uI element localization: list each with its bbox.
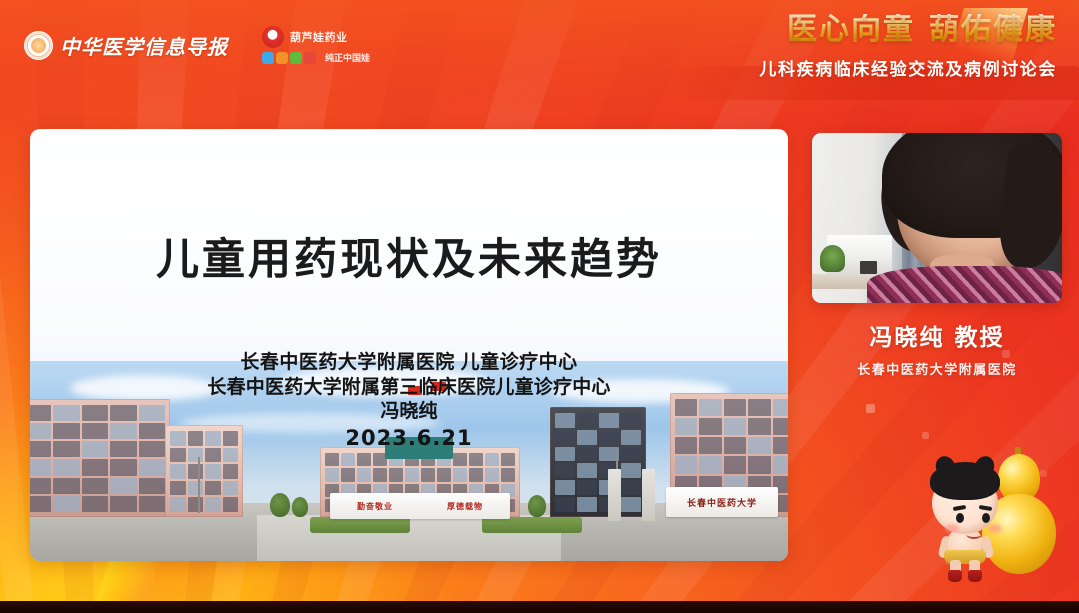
- slide-subtitle-line-1: 长春中医药大学附属医院 儿童诊疗中心: [30, 351, 788, 376]
- gate-pillar: [642, 469, 655, 521]
- speaker-organization: 长春中医药大学附属医院: [812, 359, 1062, 378]
- chip-green-icon: [290, 52, 302, 64]
- event-title: 医心向童葫佑健康: [759, 14, 1057, 46]
- event-header: 医心向童葫佑健康 儿科疾病临床经验交流及病例讨论会: [759, 14, 1057, 80]
- speaker-name-row: 冯晓纯教授: [812, 318, 1062, 352]
- slide-subtitle-line-2: 长春中医药大学附属第三临床医院儿童诊疗中心: [30, 376, 788, 401]
- logo-primary-name: 中华医学信息导报: [60, 31, 228, 60]
- lawn-strip: [482, 517, 582, 533]
- brand-color-chips: [262, 52, 316, 64]
- mascot-brow-left: [953, 505, 966, 511]
- video-small-box: [860, 261, 878, 275]
- slide-subtitle-block: 长春中医药大学附属医院 儿童诊疗中心 长春中医药大学附属第三临床医院儿童诊疗中心…: [30, 351, 788, 452]
- speaker-video-panel[interactable]: [812, 133, 1062, 303]
- mascot-mouth: [966, 529, 982, 539]
- medical-association-seal-icon: [24, 31, 53, 60]
- mascot-cheek-right: [988, 524, 1002, 533]
- lawn-strip: [310, 517, 410, 533]
- mascot-eye-left: [956, 513, 964, 523]
- logo-huluwa-pharma: 葫芦娃药业 纯正中国娃: [262, 26, 370, 64]
- event-title-part2: 葫佑健康: [929, 13, 1057, 46]
- mascot-boy-icon: [924, 458, 1008, 580]
- tree-icon: [270, 493, 290, 517]
- motto-left: 勤奋敬业: [357, 501, 393, 512]
- speaker-title: 教授: [955, 324, 1005, 350]
- chip-orange-icon: [276, 52, 288, 64]
- logo-secondary-name: 葫芦娃药业: [290, 29, 348, 45]
- chip-blue-icon: [262, 52, 274, 64]
- sparkle-dot: [866, 404, 875, 413]
- sparkle-dot: [922, 432, 929, 439]
- university-name-sign: 长春中医药大学: [666, 487, 778, 517]
- event-subtitle: 儿科疾病临床经验交流及病例讨论会: [759, 55, 1057, 80]
- street-lamp-icon: [198, 457, 200, 513]
- tree-icon: [528, 495, 546, 517]
- slide-presenter-name: 冯晓纯: [30, 400, 788, 425]
- mascot-huluwa: [918, 440, 1058, 590]
- slide-date: 2023.6.21: [30, 425, 788, 452]
- mascot-hair-bun-right: [972, 453, 998, 481]
- gourd-brand-icon: [262, 26, 284, 48]
- motto-right: 厚德载物: [447, 501, 483, 512]
- broadcast-screen: 中华医学信息导报 葫芦娃药业 纯正中国娃 医心向童葫佑健康: [0, 0, 1079, 613]
- mascot-hair-bun-left: [933, 453, 959, 481]
- mascot-boot-left: [948, 570, 962, 582]
- mascot-hair: [930, 462, 1000, 500]
- mascot-cheek-left: [945, 524, 959, 533]
- mascot-boot-right: [968, 570, 982, 582]
- video-plant-icon: [820, 245, 845, 272]
- presentation-slide[interactable]: 儿童用药现状及未来趋势 长春中医药大学附属医院 儿童诊疗中心 长春中医药大学附属…: [30, 129, 788, 561]
- campus-motto-sign: 勤奋敬业 厚德载物: [330, 493, 510, 519]
- event-title-part1: 医心向童: [787, 13, 915, 46]
- header-logo-bar: 中华医学信息导报 葫芦娃药业 纯正中国娃: [24, 26, 370, 64]
- mascot-eye-right: [982, 513, 990, 523]
- tree-icon: [292, 497, 308, 517]
- logo-chinese-medical-journal: 中华医学信息导报: [24, 31, 228, 60]
- mascot-brow-right: [979, 505, 992, 511]
- video-person-shirt: [867, 266, 1062, 303]
- chip-red-icon: [304, 52, 316, 64]
- university-name: 长春中医药大学: [687, 496, 757, 509]
- slide-title: 儿童用药现状及未来趋势: [30, 225, 788, 287]
- gate-pillar: [608, 469, 621, 521]
- bottom-letterbox-bar: [0, 601, 1079, 613]
- speaker-name: 冯晓纯: [870, 324, 945, 350]
- logo-secondary-tagline: 纯正中国娃: [325, 51, 370, 64]
- speaker-caption: 冯晓纯教授 长春中医药大学附属医院: [812, 318, 1062, 378]
